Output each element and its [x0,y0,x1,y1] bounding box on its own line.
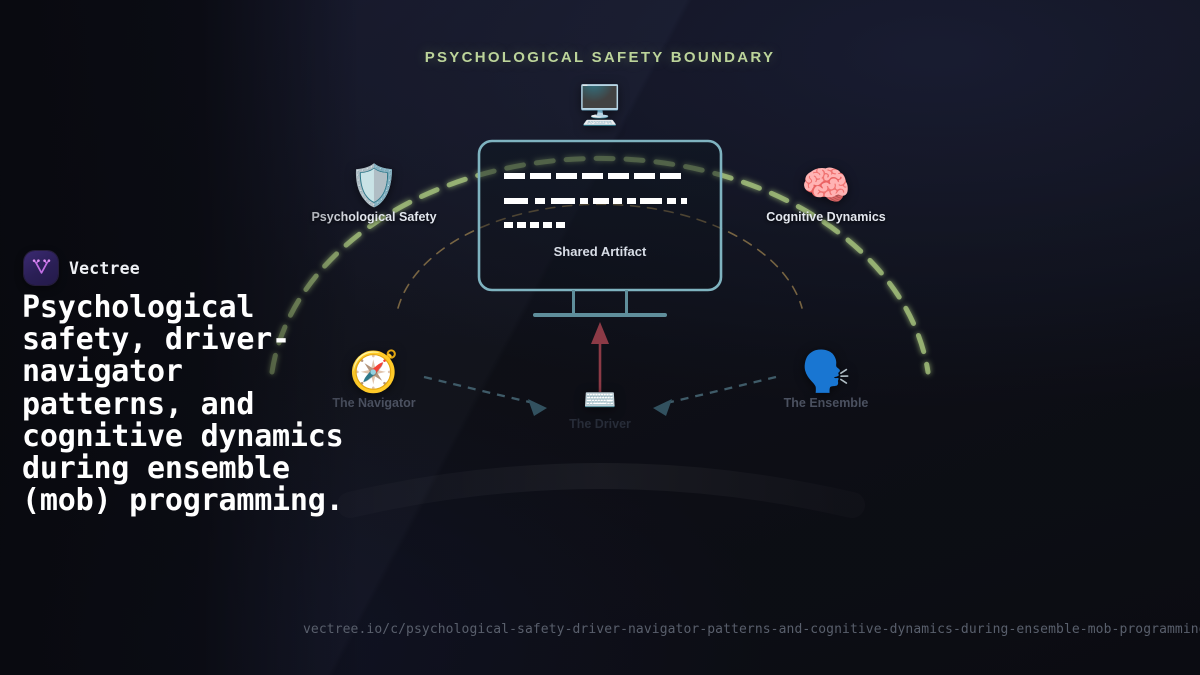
vectree-tree-logo-icon [24,251,58,285]
vectree-logo-glyph [31,258,52,279]
keyboard-icon: ⌨️ [500,384,700,416]
driver-to-artifact-arrowhead [591,322,609,344]
monitor-base [533,313,667,317]
brain-icon: 🧠 [726,163,926,209]
node-the-driver: ⌨️ The Driver [500,384,700,431]
brand-name: Vectree [69,259,140,278]
node-label-the-ensemble: The Ensemble [726,396,926,410]
shared-artifact-screen [479,141,721,290]
speaking-head-icon: 🗣️ [726,349,926,395]
page-headline: Psychological safety, driver-navigator p… [22,292,352,517]
node-cognitive-dynamics: 🧠 Cognitive Dynamics [726,163,926,224]
footer-url: vectree.io/c/psychological-safety-driver… [303,622,1200,637]
monitor-neck-left [572,290,575,316]
node-label-the-driver: The Driver [500,417,700,431]
brand-block: Vectree [24,251,140,285]
desktop-computer-icon: 🖥️ [500,84,700,128]
monitor-neck-right [625,290,628,316]
shared-artifact-label: Shared Artifact [480,244,720,259]
node-the-ensemble: 🗣️ The Ensemble [726,349,926,410]
code-line-1 [504,173,681,179]
node-label-cognitive-dynamics: Cognitive Dynamics [726,210,926,224]
desktop-computer-icon-wrapper: 🖥️ [500,84,700,128]
floor-arc [350,476,852,505]
